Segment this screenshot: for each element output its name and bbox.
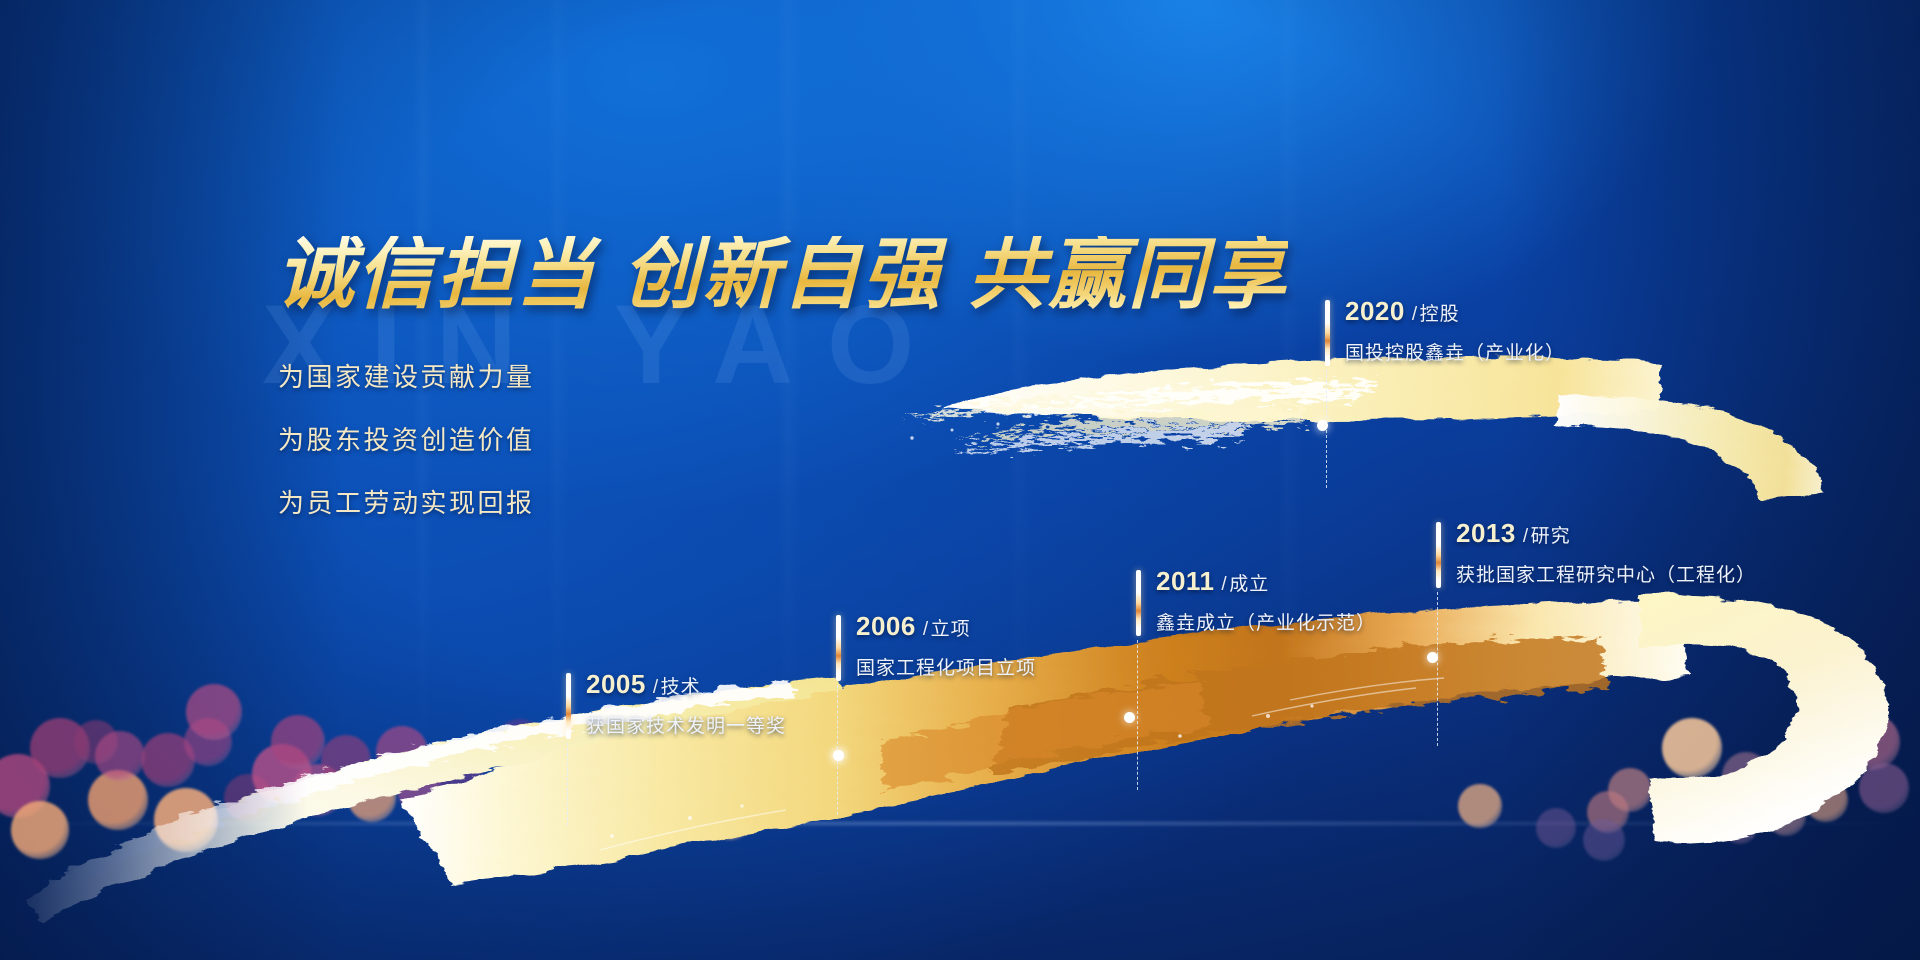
milestone-year: 2013/研究 — [1456, 518, 1571, 549]
milestone-accent-bar — [1325, 300, 1330, 366]
milestone-year-number: 2006 — [856, 611, 916, 641]
tagline-3: 为员工劳动实现回报 — [278, 483, 535, 520]
headline-part-2: 创新自强 — [622, 231, 942, 318]
milestone-separator: / — [923, 619, 929, 640]
milestone-year-number: 2020 — [1345, 296, 1405, 326]
milestone-separator: / — [653, 677, 659, 698]
milestone-year-number: 2005 — [586, 669, 646, 699]
tagline-2: 为股东投资创造价值 — [278, 420, 535, 457]
milestone-year: 2005/技术 — [586, 669, 701, 700]
milestone-year-number: 2013 — [1456, 518, 1516, 548]
milestone-category: 研究 — [1531, 526, 1571, 547]
milestone-marker-dot[interactable] — [1427, 652, 1438, 663]
milestone-description: 获国家技术发明一等奖 — [586, 711, 786, 738]
milestone-marker-dot[interactable] — [1124, 712, 1135, 723]
milestone-leader-line — [1137, 640, 1138, 790]
milestone-year: 2011/成立 — [1156, 566, 1269, 597]
milestone-category: 控股 — [1420, 304, 1460, 325]
milestone-category: 技术 — [661, 677, 701, 698]
milestone-accent-bar — [836, 615, 841, 681]
milestone-description: 国家工程化项目立项 — [856, 653, 1036, 680]
milestone-category: 立项 — [931, 619, 971, 640]
milestone-accent-bar — [1436, 522, 1441, 588]
milestone-separator: / — [1412, 304, 1418, 325]
milestone-separator: / — [1221, 574, 1227, 595]
milestone-accent-bar — [1136, 570, 1141, 636]
brush-stroke-illustration — [0, 0, 1920, 960]
milestone-separator: / — [1523, 526, 1529, 547]
milestone-description: 鑫垚成立（产业化示范） — [1156, 608, 1376, 635]
milestone-marker-dot[interactable] — [833, 750, 844, 761]
milestone-marker-dot[interactable] — [1317, 420, 1328, 431]
banner-canvas: XIN YAO 诚信担当创新自强共赢同享 为国家建设贡献力量 为股东投资创造价值… — [0, 0, 1920, 960]
milestone-accent-bar — [566, 673, 571, 739]
tagline-1: 为国家建设贡献力量 — [278, 357, 535, 394]
milestone-leader-line — [1437, 592, 1438, 746]
milestone-description: 获批国家工程研究中心（工程化） — [1456, 560, 1756, 587]
milestone-leader-line — [567, 743, 568, 825]
milestone-category: 成立 — [1229, 574, 1269, 595]
milestone-year-number: 2011 — [1156, 566, 1214, 596]
headline-part-1: 诚信担当 — [276, 231, 596, 318]
milestone-year: 2020/控股 — [1345, 296, 1460, 327]
milestone-description: 国投控股鑫垚（产业化） — [1345, 338, 1565, 365]
milestone-year: 2006/立项 — [856, 611, 971, 642]
page-title: 诚信担当创新自强共赢同享 — [276, 236, 1288, 314]
headline-part-3: 共赢同享 — [968, 231, 1288, 318]
